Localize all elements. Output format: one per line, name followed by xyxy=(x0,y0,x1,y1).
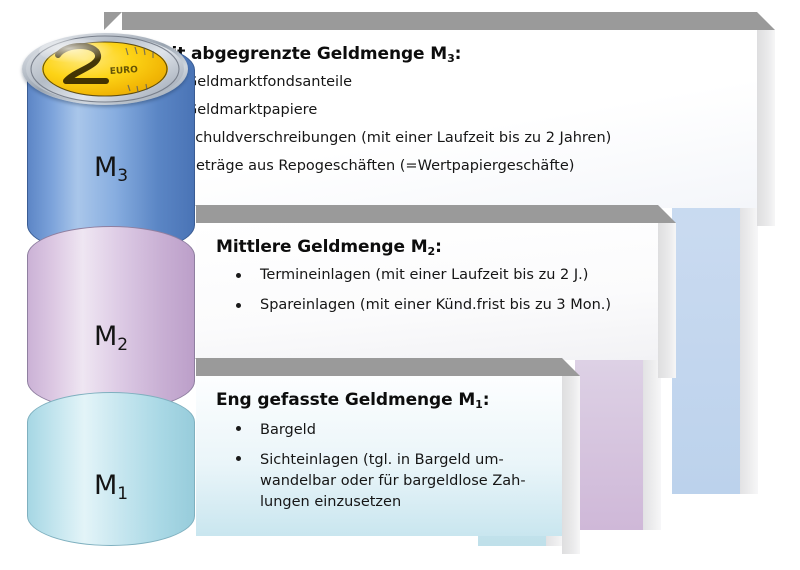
list-item: Spareinlagen (mit einer Künd.frist bis z… xyxy=(214,297,640,314)
panel-m3-title: Weit abgegrenzte Geldmenge M3: xyxy=(142,44,739,64)
panel-m3-right-side xyxy=(757,30,775,226)
bullet-icon xyxy=(236,303,241,308)
panel-m3-bevel xyxy=(122,12,757,30)
panel-m2-body: Mittlere Geldmenge M2: Termineinlagen (m… xyxy=(196,223,658,360)
panel-m1-right-side xyxy=(562,376,580,554)
panel-m1-title: Eng gefasste Geldmenge M1: xyxy=(216,390,544,410)
cylinder-label-m1: M1 xyxy=(27,470,195,501)
list-item: Bargeld xyxy=(214,420,544,441)
svg-text:EURO: EURO xyxy=(110,65,139,77)
panel-m3-title-subscript: 3 xyxy=(447,52,455,65)
panel-m2-list: Termineinlagen (mit einer Laufzeit bis z… xyxy=(214,267,640,314)
list-item: Geldmarktpapiere xyxy=(140,102,739,119)
panel-m3-list: Geldmarktfondsanteile Geldmarktpapiere S… xyxy=(140,74,739,175)
panel-m1-title-subscript: 1 xyxy=(475,398,483,411)
list-item: Geldmarktfondsanteile xyxy=(140,74,739,91)
cylinder-segment-m2-surface xyxy=(27,226,195,411)
cylinder-segment-m2: M2 xyxy=(27,226,195,411)
panel-m1-list: Bargeld Sichteinlagen (tgl. in Bargeld u… xyxy=(214,420,544,513)
panel-m1-bevel xyxy=(196,358,562,376)
panel-m2: Mittlere Geldmenge M2: Termineinlagen (m… xyxy=(196,205,658,360)
bullet-icon xyxy=(236,456,241,461)
panel-m2-right-side xyxy=(658,223,676,378)
bullet-icon xyxy=(236,426,241,431)
list-item: Sichteinlagen (tgl. in Bargeld um- wande… xyxy=(214,450,544,513)
list-item: Beträge aus Repogeschäften (=Wertpapierg… xyxy=(140,158,739,175)
cylinder-segment-m1-surface xyxy=(27,392,195,546)
cylinder-segment-m1: M1 xyxy=(27,392,195,546)
list-item: Schuldverschreibungen (mit einer Laufzei… xyxy=(140,130,739,147)
cylinder-label-m3: M3 xyxy=(27,152,195,183)
coin-highlight xyxy=(39,39,115,63)
two-euro-coin-icon: EURO xyxy=(22,33,188,105)
panel-m3-body: Weit abgegrenzte Geldmenge M3: Geldmarkt… xyxy=(122,30,757,208)
panel-m2-bevel xyxy=(196,205,658,223)
panel-m3: Weit abgegrenzte Geldmenge M3: Geldmarkt… xyxy=(122,12,757,208)
bullet-icon xyxy=(236,273,241,278)
list-item: Termineinlagen (mit einer Laufzeit bis z… xyxy=(214,267,640,284)
diagram-canvas: Weit abgegrenzte Geldmenge M3: Geldmarkt… xyxy=(0,0,800,570)
panel-m2-title: Mittlere Geldmenge M2: xyxy=(216,237,640,257)
money-supply-cylinder: M3 M2 M1 xyxy=(27,40,195,546)
panel-m1: Eng gefasste Geldmenge M1: Bargeld Sicht… xyxy=(196,358,562,536)
cylinder-label-m2: M2 xyxy=(27,321,195,352)
panel-m1-body: Eng gefasste Geldmenge M1: Bargeld Sicht… xyxy=(196,376,562,536)
panel-m2-title-subscript: 2 xyxy=(428,245,436,258)
